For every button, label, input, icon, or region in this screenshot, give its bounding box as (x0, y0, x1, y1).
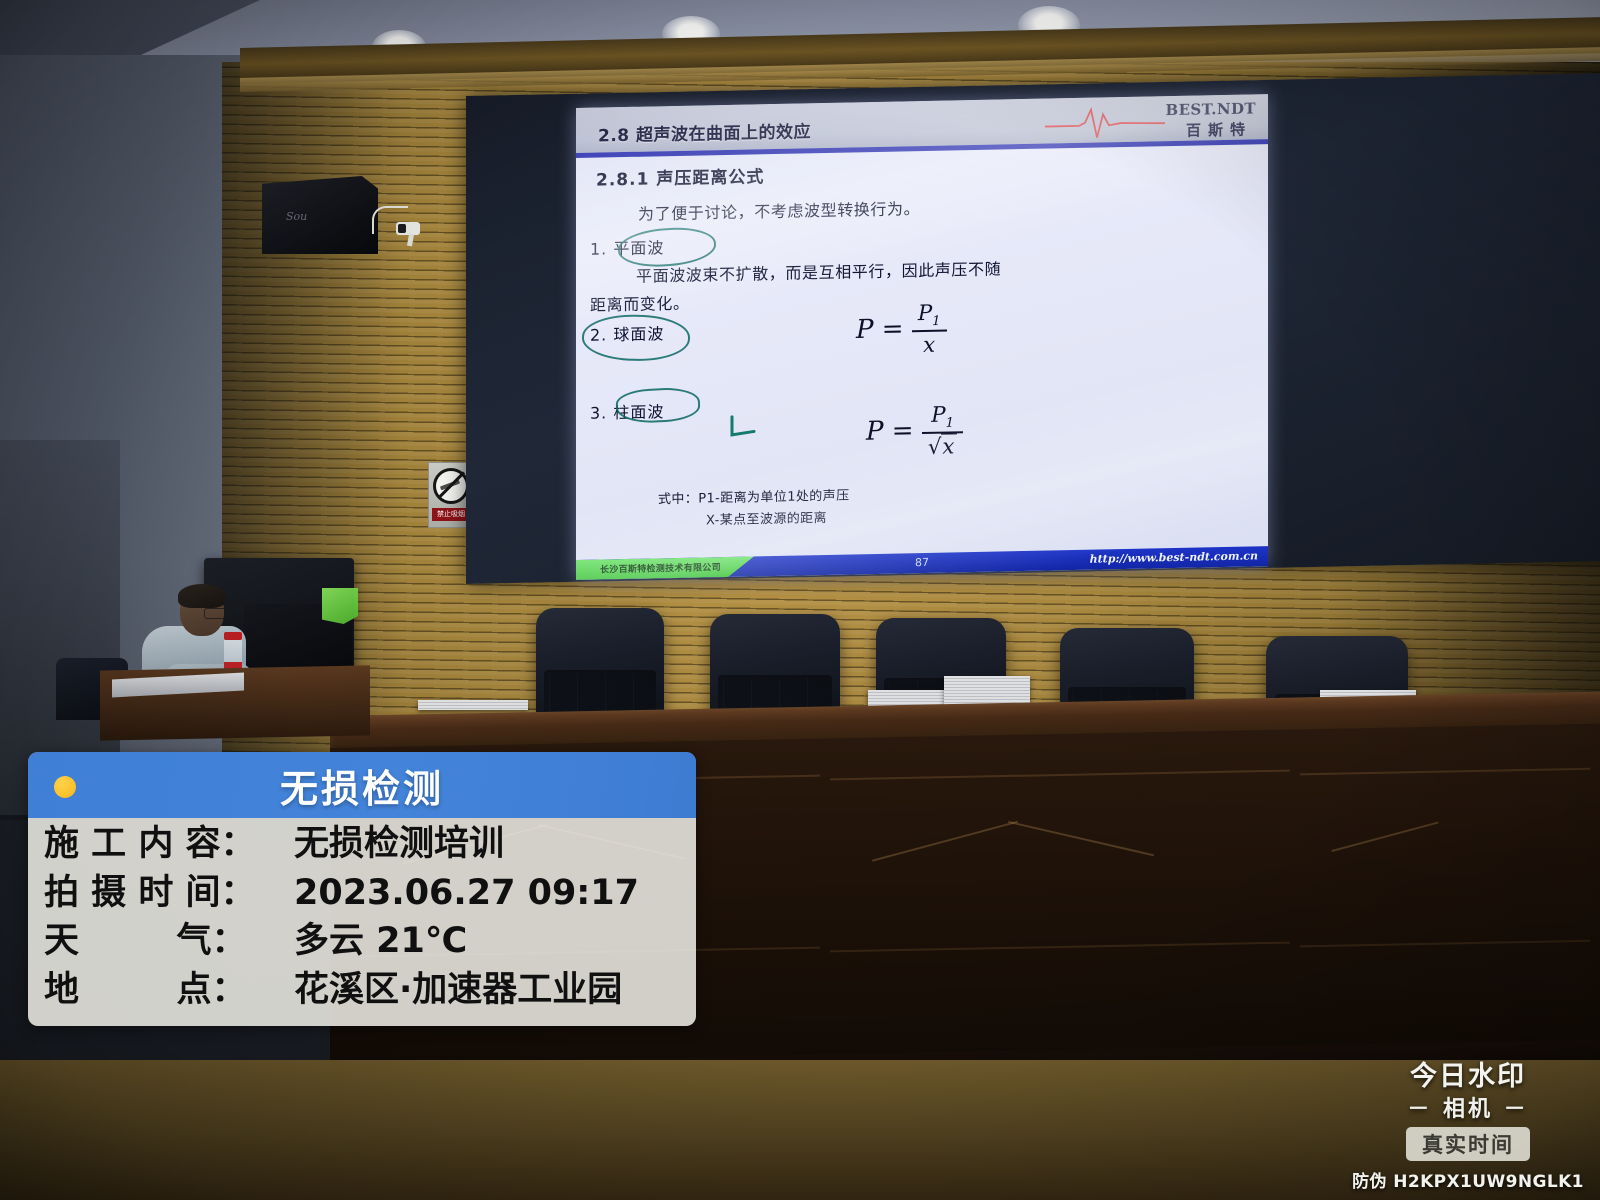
ink-circle-item-2 (581, 314, 691, 362)
brand-badge: 真实时间 (1406, 1127, 1530, 1161)
brand-anticounterfeit-code: 防伪 H2KPX1UW9NGLK1 (1350, 1167, 1586, 1192)
green-folder (322, 588, 358, 624)
formula-numerator: P1 (912, 301, 947, 330)
slide-item-1-text-b: 距离而变化。 (590, 290, 690, 316)
no-smoking-icon (433, 468, 469, 504)
security-camera-icon (396, 222, 426, 240)
watermark-row-content: 施 工 内 容： 无损检测培训 (28, 820, 696, 869)
watermark-value: 花溪区·加速器工业园 (294, 967, 682, 1014)
formula-numerator: P1 (922, 402, 964, 431)
camera-lens (398, 224, 406, 233)
formula-cylindrical-wave: P = P1 √x (866, 402, 963, 461)
table-panel (830, 770, 1290, 953)
watermark-key: 天 气： (44, 918, 294, 965)
logo-english: BEST.NDT (1166, 99, 1256, 119)
watermark-panel: 无损检测 施 工 内 容： 无损检测培训 拍 摄 时 间： 2023.06.27… (28, 752, 696, 1026)
no-smoking-label: 禁止吸烟 (432, 508, 470, 521)
slide-body: 2.8.1 声压距离公式 为了便于讨论，不考虑波型转换行为。 1. 平面波 平面… (576, 146, 1268, 548)
watermark-header: 无损检测 (28, 752, 696, 818)
slide-title: 2.8 超声波在曲面上的效应 (598, 117, 811, 146)
formula-fraction: P1 x (912, 301, 947, 359)
wall-speaker-left: Sou (262, 176, 378, 254)
watermark-value: 2023.06.27 09:17 (294, 870, 682, 917)
slide-note-2: X-某点至波源的距离 (706, 507, 827, 528)
footer-url: http://www.best-ndt.com.cn (1090, 549, 1258, 565)
logo-chinese: 百斯特 (1186, 118, 1252, 140)
ink-check-mark (728, 412, 762, 447)
watermark-key: 地 点： (44, 967, 294, 1014)
watermark-row-location: 地 点： 花溪区·加速器工业园 (28, 966, 696, 1015)
status-dot-icon (54, 776, 76, 798)
formula-lhs: P = (866, 416, 914, 447)
photo-canvas: Sou 禁止吸烟 禁止吸烟 荣 誉 证 书 2. (0, 0, 1600, 1200)
brand-line-1: 今日水印 (1350, 1054, 1586, 1093)
best-ndt-logo: BEST.NDT 百斯特 (1045, 96, 1260, 146)
watermark-value: 无损检测培训 (294, 821, 682, 868)
slide-note-1: 式中：P1-距离为单位1处的声压 (658, 485, 849, 508)
bottle-cap (224, 632, 242, 640)
slide-heading: 2.8.1 声压距离公式 (596, 162, 764, 190)
app-watermark-brand: 今日水印 － 相机 － 真实时间 防伪 H2KPX1UW9NGLK1 (1350, 1054, 1586, 1192)
formula-denominator: √x (922, 434, 964, 460)
eyeglasses-icon (204, 608, 230, 619)
waveform-icon (1045, 102, 1165, 144)
camera-body (396, 222, 420, 235)
person-hair (178, 584, 226, 608)
formula-denominator: x (912, 333, 947, 359)
watermark-key: 施 工 内 容： (44, 821, 294, 868)
watermark-row-time: 拍 摄 时 间： 2023.06.27 09:17 (28, 869, 696, 918)
formula-spherical-wave: P = P1 x (856, 301, 947, 360)
ink-circle-item-3 (615, 386, 700, 425)
brand-line-2: － 相机 － (1350, 1091, 1586, 1123)
projected-slide: 2.8 超声波在曲面上的效应 BEST.NDT 百斯特 2.8.1 声压距离公式… (576, 94, 1268, 580)
watermark-key: 拍 摄 时 间： (44, 870, 294, 917)
formula-lhs: P = (856, 314, 904, 345)
paper-stack (418, 700, 528, 710)
watermark-rows: 施 工 内 容： 无损检测培训 拍 摄 时 间： 2023.06.27 09:1… (28, 818, 696, 1026)
formula-fraction: P1 √x (922, 402, 964, 460)
watermark-value: 多云 21℃ (294, 918, 682, 965)
watermark-title: 无损检测 (280, 758, 444, 813)
watermark-row-weather: 天 气： 多云 21℃ (28, 917, 696, 966)
slide-intro: 为了便于讨论，不考虑波型转换行为。 (638, 195, 920, 225)
speaker-brand-label: Sou (286, 210, 307, 223)
table-panel (1300, 768, 1590, 948)
